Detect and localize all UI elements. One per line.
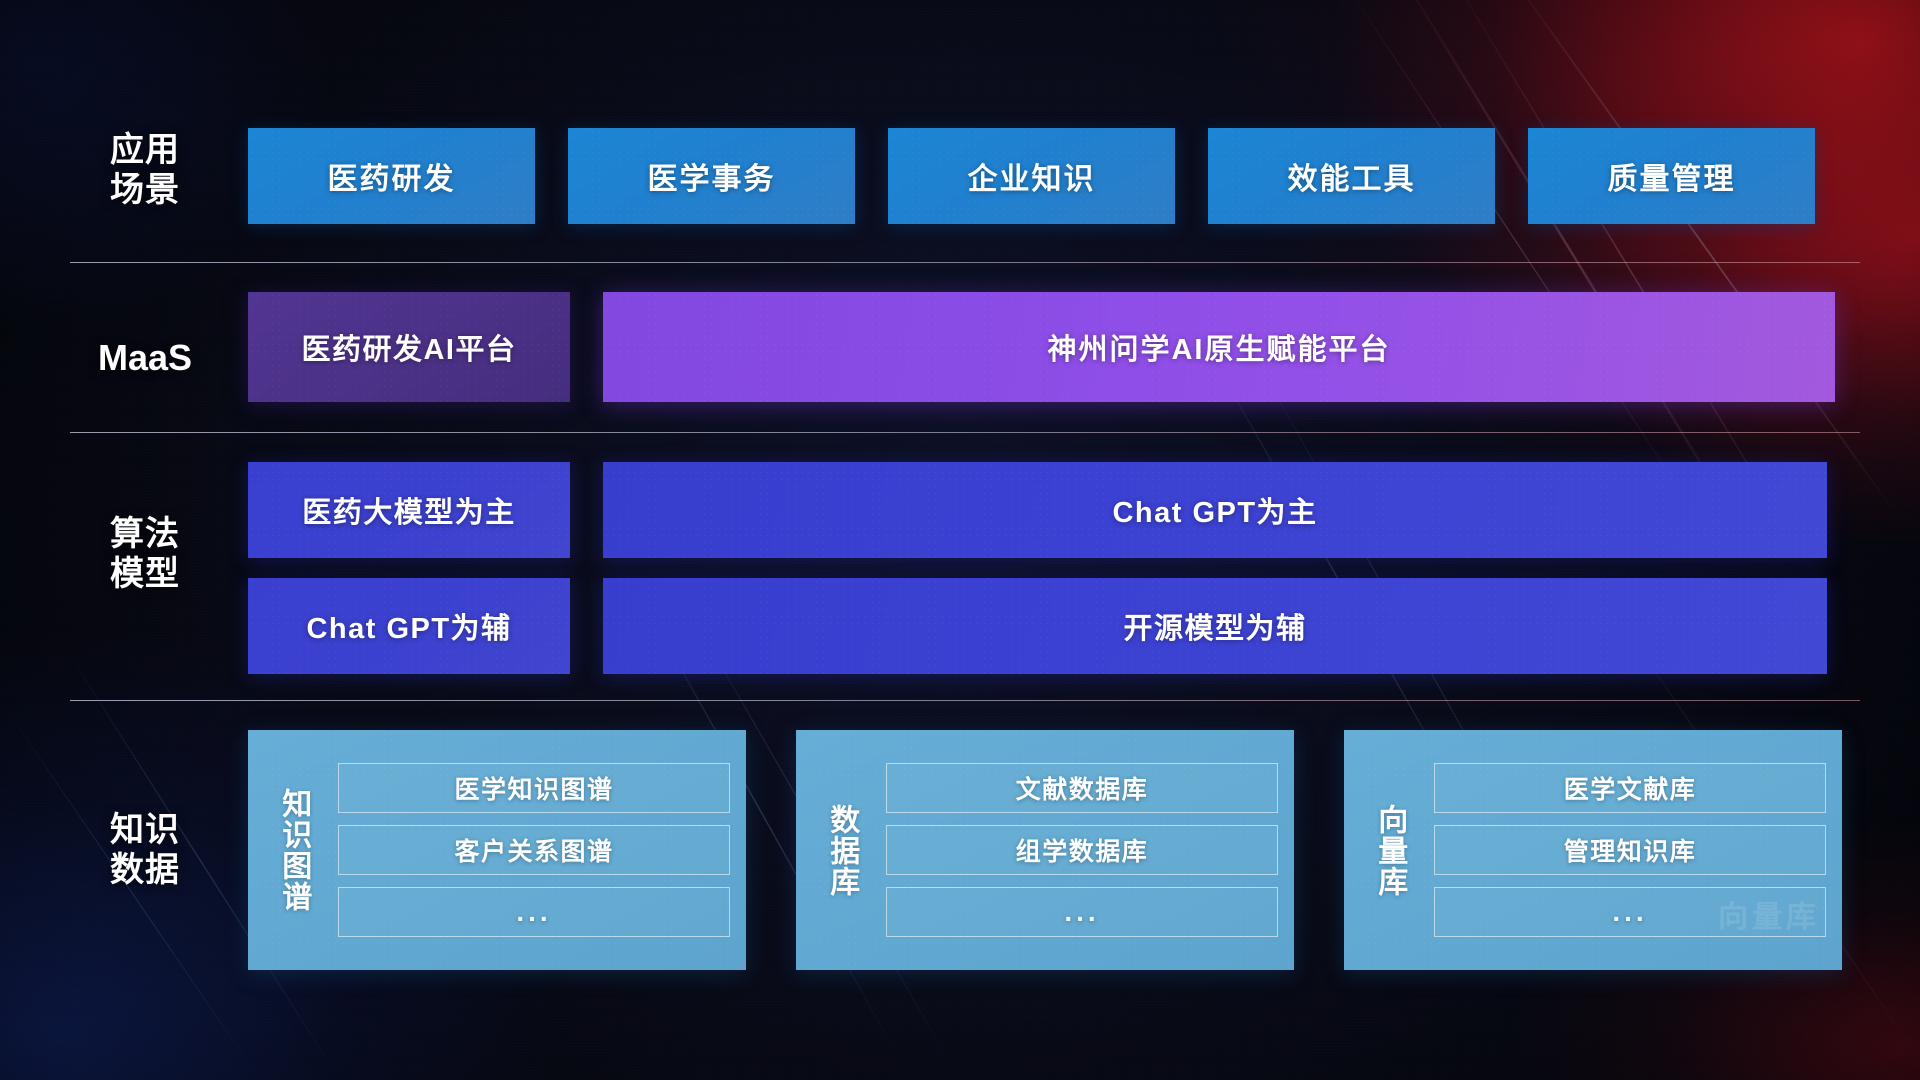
- algo-box-pharma-llm-primary[interactable]: 医药大模型为主: [248, 462, 570, 558]
- knowledge-item[interactable]: 客户关系图谱: [338, 825, 730, 875]
- app-box-medical-affairs[interactable]: 医学事务: [568, 128, 855, 224]
- knowledge-item-label: ...: [1612, 896, 1647, 928]
- knowledge-item-label: ...: [516, 896, 551, 928]
- app-box-enterprise-knowledge[interactable]: 企业知识: [888, 128, 1175, 224]
- application-layer-row: 医药研发 医学事务 企业知识 效能工具 质量管理: [248, 128, 1860, 224]
- knowledge-item-label: 管理知识库: [1564, 832, 1697, 868]
- knowledge-item[interactable]: 文献数据库: [886, 763, 1278, 813]
- maas-box-pharma-ai-platform[interactable]: 医药研发AI平台: [248, 292, 570, 402]
- maas-layer-row: 医药研发AI平台 神州问学AI原生赋能平台: [248, 292, 1860, 402]
- knowledge-item[interactable]: 管理知识库: [1434, 825, 1826, 875]
- maas-box-label: 神州问学AI原生赋能平台: [1047, 326, 1390, 368]
- algo-box-label: Chat GPT为辅: [306, 605, 511, 647]
- knowledge-panel-knowledge-graph[interactable]: 知识图谱 医学知识图谱 客户关系图谱 ...: [248, 730, 746, 970]
- diagram-content: 应用 场景 医药研发 医学事务 企业知识 效能工具 质量管理 MaaS: [0, 0, 1920, 1080]
- algo-box-chatgpt-secondary[interactable]: Chat GPT为辅: [248, 578, 570, 674]
- knowledge-panel-side-label: 数据库: [810, 804, 872, 897]
- knowledge-panel-vector-database[interactable]: 向量库 向量库 医学文献库 管理知识库 ...: [1344, 730, 1842, 970]
- row-label-knowledge-line2: 数据: [70, 850, 220, 890]
- app-box-label: 医药研发: [328, 154, 456, 198]
- row-label-knowledge: 知识 数据: [70, 810, 220, 890]
- knowledge-item[interactable]: 组学数据库: [886, 825, 1278, 875]
- knowledge-panel-items: 文献数据库 组学数据库 ...: [886, 763, 1278, 937]
- algorithm-layer-row-1: 医药大模型为主 Chat GPT为主: [248, 462, 1860, 558]
- row-label-knowledge-line1: 知识: [70, 810, 220, 850]
- knowledge-panel-database[interactable]: 数据库 文献数据库 组学数据库 ...: [796, 730, 1294, 970]
- knowledge-item-more[interactable]: ...: [338, 887, 730, 937]
- divider-maas-algorithm: [70, 432, 1860, 433]
- knowledge-item-label: 医学文献库: [1564, 770, 1697, 806]
- knowledge-item[interactable]: 医学文献库: [1434, 763, 1826, 813]
- knowledge-panel-items: 医学文献库 管理知识库 ...: [1434, 763, 1826, 937]
- app-box-label: 质量管理: [1608, 154, 1736, 198]
- app-box-label: 效能工具: [1288, 154, 1416, 198]
- app-box-medicine-rd[interactable]: 医药研发: [248, 128, 535, 224]
- knowledge-item-label: 组学数据库: [1016, 832, 1149, 868]
- knowledge-item-label: 客户关系图谱: [454, 832, 613, 868]
- app-box-efficiency-tools[interactable]: 效能工具: [1208, 128, 1495, 224]
- algo-box-chatgpt-primary[interactable]: Chat GPT为主: [603, 462, 1827, 558]
- knowledge-item-more[interactable]: ...: [886, 887, 1278, 937]
- diagram-canvas: 应用 场景 医药研发 医学事务 企业知识 效能工具 质量管理 MaaS: [0, 0, 1920, 1080]
- algo-box-label: 医药大模型为主: [302, 489, 516, 531]
- divider-algorithm-knowledge: [70, 700, 1860, 701]
- row-label-application-line2: 场景: [70, 170, 220, 210]
- row-label-maas: MaaS: [70, 337, 220, 379]
- knowledge-item-more[interactable]: ...: [1434, 887, 1826, 937]
- row-label-algorithm-line2: 模型: [70, 554, 220, 594]
- divider-application-maas: [70, 262, 1860, 263]
- knowledge-item[interactable]: 医学知识图谱: [338, 763, 730, 813]
- knowledge-panel-side-label: 知识图谱: [262, 788, 324, 912]
- knowledge-panel-items: 医学知识图谱 客户关系图谱 ...: [338, 763, 730, 937]
- knowledge-item-label: 文献数据库: [1016, 770, 1149, 806]
- knowledge-panel-side-label: 向量库: [1358, 804, 1420, 897]
- row-label-algorithm: 算法 模型: [70, 514, 220, 594]
- maas-box-shenzhou-wenxue-platform[interactable]: 神州问学AI原生赋能平台: [603, 292, 1835, 402]
- app-box-quality-management[interactable]: 质量管理: [1528, 128, 1815, 224]
- algo-box-label: 开源模型为辅: [1123, 605, 1306, 647]
- app-box-label: 医学事务: [648, 154, 776, 198]
- algo-box-opensource-secondary[interactable]: 开源模型为辅: [603, 578, 1827, 674]
- maas-box-label: 医药研发AI平台: [301, 326, 516, 368]
- row-label-maas-text: MaaS: [70, 337, 220, 379]
- knowledge-item-label: 医学知识图谱: [454, 770, 613, 806]
- row-label-application-line1: 应用: [70, 130, 220, 170]
- row-label-application: 应用 场景: [70, 130, 220, 210]
- algorithm-layer-row-2: Chat GPT为辅 开源模型为辅: [248, 578, 1860, 674]
- app-box-label: 企业知识: [968, 154, 1096, 198]
- row-label-algorithm-line1: 算法: [70, 514, 220, 554]
- knowledge-item-label: ...: [1064, 896, 1099, 928]
- algo-box-label: Chat GPT为主: [1112, 489, 1317, 531]
